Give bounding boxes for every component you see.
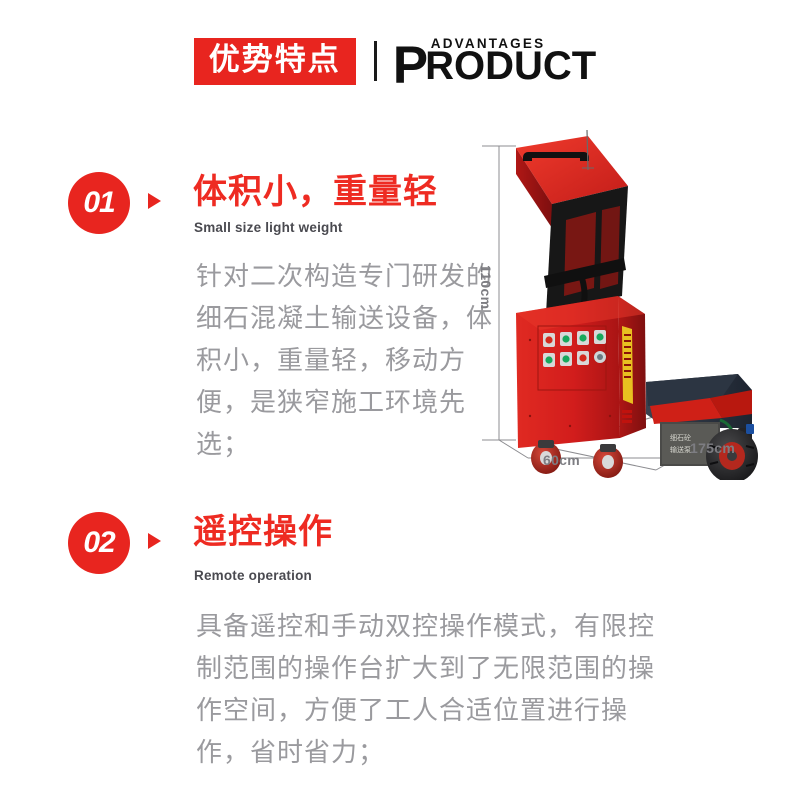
triangle-bullet-icon: [148, 193, 161, 209]
machine-lid: [516, 130, 628, 324]
dimension-label-height: 110cm: [478, 265, 494, 309]
dimension-label-depth: 175cm: [690, 440, 735, 456]
feature-number-badge-01: 01: [68, 172, 130, 234]
feature-number-badge-02: 02: [68, 512, 130, 574]
page-header: 优势特点 P RODUCT ADVANTAGES: [0, 30, 790, 92]
feature-title-02: 遥控操作: [193, 514, 333, 551]
dimension-label-width: 60cm: [543, 452, 580, 468]
feature-subtitle-01: Small size light weight: [194, 220, 343, 235]
feature-body-02: 具备遥控和手动双控操作模式，有限控制范围的操作台扩大到了无限范围的操作空间，方便…: [196, 606, 666, 774]
svg-text:细石砼: 细石砼: [670, 433, 691, 442]
svg-text:输送泵: 输送泵: [670, 445, 691, 454]
product-image: 细石砼 输送泵 SAAD: [470, 128, 790, 480]
feature-title-01: 体积小，重量轻: [193, 174, 438, 211]
feature-subtitle-02: Remote operation: [194, 568, 312, 583]
header-english-superscript: ADVANTAGES: [431, 36, 546, 51]
header-english-title: P RODUCT ADVANTAGES: [393, 35, 596, 87]
header-english-rest: RODUCT: [425, 45, 596, 87]
header-divider: [374, 41, 377, 81]
feature-header-02: 02 遥控操作 Remote operation: [0, 508, 790, 580]
feature-body-01: 针对二次构造专门研发的细石混凝土输送设备，体积小，重量轻，移动方便，是狭窄施工环…: [196, 256, 496, 467]
machine-illustration: 细石砼 输送泵: [470, 128, 790, 480]
triangle-bullet-icon: [148, 533, 161, 549]
header-chinese-badge: 优势特点: [194, 38, 356, 85]
feature-block-02: 02 遥控操作 Remote operation 具备遥控和手动双控操作模式，有…: [0, 508, 790, 580]
header-english-initial: P: [393, 44, 427, 87]
machine-body: [516, 296, 646, 448]
